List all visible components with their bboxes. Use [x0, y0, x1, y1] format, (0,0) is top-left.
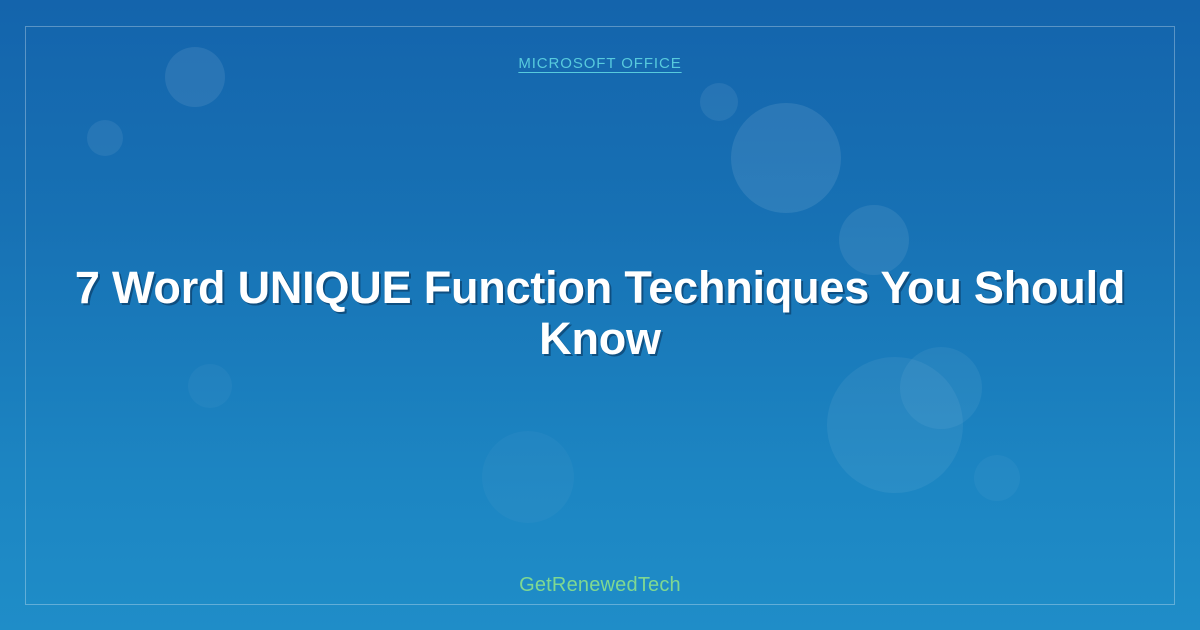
page-title: 7 Word UNIQUE Function Techniques You Sh…: [70, 262, 1130, 365]
card-content: MICROSOFT OFFICE 7 Word UNIQUE Function …: [0, 0, 1200, 630]
site-name-footer: GetRenewedTech: [0, 574, 1200, 597]
category-link[interactable]: MICROSOFT OFFICE: [0, 55, 1200, 72]
title-container: 7 Word UNIQUE Function Techniques You Sh…: [0, 262, 1200, 365]
social-share-card: MICROSOFT OFFICE 7 Word UNIQUE Function …: [0, 0, 1200, 630]
